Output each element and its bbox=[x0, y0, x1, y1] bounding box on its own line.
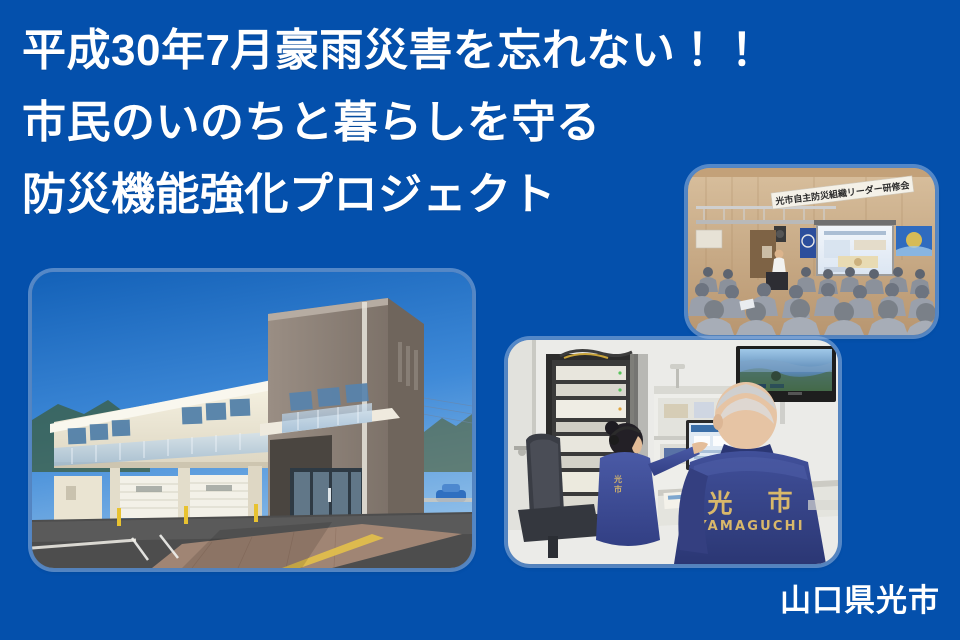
building-illustration bbox=[32, 272, 472, 568]
controlroom-illustration: 光 市 bbox=[508, 340, 838, 564]
svg-text:市: 市 bbox=[614, 484, 622, 494]
poster-canvas: 平成30年7月豪雨災害を忘れない！！ 市民のいのちと暮らしを守る 防災機能強化プ… bbox=[0, 0, 960, 640]
title-line-2: 市民のいのちと暮らしを守る bbox=[22, 98, 922, 148]
jacket-kanji-right: 市 bbox=[767, 487, 792, 516]
title-line-1: 平成30年7月豪雨災害を忘れない！！ bbox=[22, 26, 922, 76]
svg-text:光: 光 bbox=[613, 474, 622, 484]
building-photo-inner bbox=[32, 272, 472, 568]
jacket-romaji: YAMAGUCHI bbox=[696, 519, 805, 534]
disaster-prevention-building-photo bbox=[32, 272, 472, 568]
municipality-credit: 山口県光市 bbox=[780, 584, 940, 618]
disaster-control-room-photo: 光 市 bbox=[508, 340, 838, 564]
poster-title: 平成30年7月豪雨災害を忘れない！！ 市民のいのちと暮らしを守る 防災機能強化プ… bbox=[22, 26, 922, 220]
title-line-3: 防災機能強化プロジェクト bbox=[22, 170, 922, 220]
jacket-kanji-left: 光 bbox=[706, 489, 732, 518]
controlroom-photo-inner: 光 市 bbox=[508, 340, 838, 564]
